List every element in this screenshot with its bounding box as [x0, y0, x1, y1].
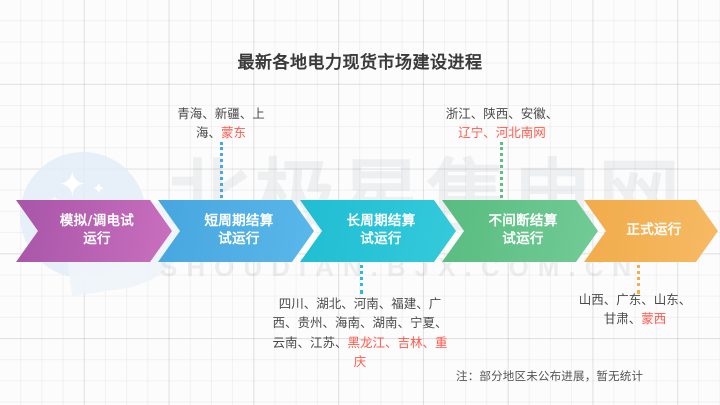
- annotation-line: 云南、江苏、黑龙江、吉林、重: [248, 333, 472, 352]
- annotation-highlight: 蒙东: [221, 125, 246, 140]
- annotation-highlight: 辽宁、河北南网: [458, 125, 546, 140]
- connector-official-bottom: [637, 258, 640, 294]
- watermark-sparkle-icon: ✦: [58, 168, 87, 202]
- annotation-text: 四川、湖北、河南、福建、广: [279, 296, 442, 311]
- annotation-line: 西、贵州、海南、湖南、宁夏、: [248, 313, 472, 332]
- annotation-text: 西、贵州、海南、湖南、宁夏、: [272, 315, 447, 330]
- annotation-highlight: 庆: [354, 354, 367, 369]
- annotation-highlight: 蒙西: [641, 311, 666, 326]
- stage-flow: 模拟/调电试 运行 短周期结算 试运行 长周期结算 试运行 不间断结算 试运行: [0, 200, 720, 262]
- stage-continuous-line1: 不间断结算: [489, 213, 558, 231]
- annotation-text: 青海、新疆、上: [177, 106, 265, 121]
- infographic-canvas: ✦ ✦ ✦ 北极星售电网 SHOUDIAN.BJX.COM.CN 最新各地电力现…: [0, 0, 720, 405]
- annotation-line: 山西、广东、山东、: [552, 290, 718, 309]
- connector-continuous-top: [500, 142, 503, 204]
- stage-simulation[interactable]: 模拟/调电试 运行: [16, 200, 172, 262]
- annotation-text: 山西、广东、山东、: [579, 292, 692, 307]
- annotation-line: 庆: [248, 352, 472, 371]
- annotation-line: 辽宁、河北南网: [424, 123, 580, 142]
- annotation-text: 海、: [196, 125, 221, 140]
- stage-short-cycle[interactable]: 短周期结算 试运行: [158, 200, 314, 262]
- stage-simulation-line2: 运行: [60, 231, 134, 249]
- annotation-official-bottom: 山西、广东、山东、 甘肃、蒙西: [552, 290, 718, 329]
- annotation-text: 浙江、陕西、安徽、: [446, 106, 559, 121]
- watermark-sparkle-small-icon: ✦: [92, 182, 105, 198]
- stage-official-line1: 正式运行: [626, 222, 681, 240]
- stage-long-cycle[interactable]: 长周期结算 试运行: [300, 200, 456, 262]
- stage-long-cycle-line2: 试运行: [347, 231, 416, 249]
- annotation-continuous-top: 浙江、陕西、安徽、 辽宁、河北南网: [424, 104, 580, 143]
- annotation-long-cycle-bottom: 四川、湖北、河南、福建、广 西、贵州、海南、湖南、宁夏、 云南、江苏、黑龙江、吉…: [248, 294, 472, 372]
- annotation-line: 青海、新疆、上: [150, 104, 292, 123]
- annotation-text: 甘肃、: [604, 311, 642, 326]
- annotation-highlight: 黑龙江、吉林、重: [348, 335, 448, 350]
- stage-short-cycle-line2: 试运行: [205, 231, 274, 249]
- annotation-line: 甘肃、蒙西: [552, 309, 718, 328]
- stage-long-cycle-line1: 长周期结算: [347, 213, 416, 231]
- stage-continuous[interactable]: 不间断结算 试运行: [442, 200, 598, 262]
- connector-long-cycle-bottom: [360, 258, 363, 294]
- annotation-line: 四川、湖北、河南、福建、广: [248, 294, 472, 313]
- annotation-short-cycle-top: 青海、新疆、上 海、蒙东: [150, 104, 292, 143]
- connector-short-cycle-top: [220, 142, 223, 204]
- page-title: 最新各地电力现货市场建设进程: [0, 48, 720, 73]
- stage-continuous-line2: 试运行: [489, 231, 558, 249]
- annotation-line: 浙江、陕西、安徽、: [424, 104, 580, 123]
- stage-official[interactable]: 正式运行: [584, 200, 718, 262]
- stage-simulation-line1: 模拟/调电试: [60, 213, 134, 231]
- footnote: 注：部分地区未公布进展，暂无统计: [456, 368, 643, 384]
- annotation-text: 云南、江苏、: [272, 335, 347, 350]
- stage-short-cycle-line1: 短周期结算: [205, 213, 274, 231]
- annotation-line: 海、蒙东: [150, 123, 292, 142]
